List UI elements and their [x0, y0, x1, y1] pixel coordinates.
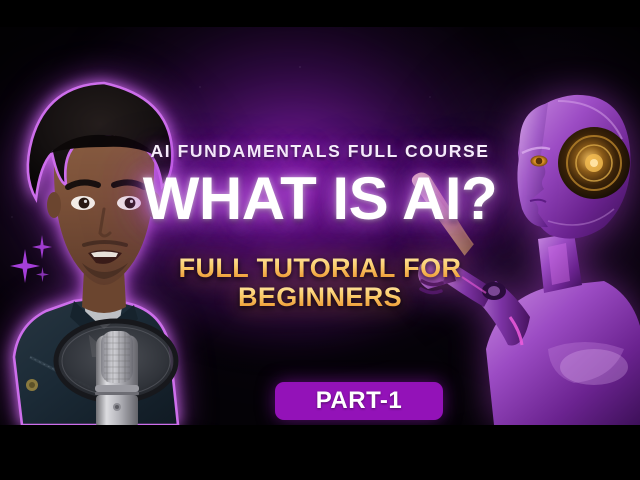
part-badge-label: PART-1 [316, 387, 403, 415]
subtitle-line-1: FULL TUTORIAL FOR [0, 254, 640, 283]
eyebrow-text: AI FUNDAMENTALS FULL COURSE [0, 141, 640, 162]
humanoid-robot-graphic [398, 49, 640, 425]
page-title: WHAT IS AI? [0, 169, 640, 229]
condenser-microphone [38, 317, 198, 425]
subtitle-text: FULL TUTORIAL FOR BEGINNERS [0, 254, 640, 312]
letterbox-top [0, 0, 640, 27]
part-badge: PART-1 [275, 382, 443, 420]
thumbnail-artwork: AI FUNDAMENTALS FULL COURSE WHAT IS AI? … [0, 27, 640, 425]
letterbox-bottom [0, 425, 640, 480]
video-thumbnail: AI FUNDAMENTALS FULL COURSE WHAT IS AI? … [0, 0, 640, 480]
subtitle-line-2: BEGINNERS [0, 283, 640, 312]
